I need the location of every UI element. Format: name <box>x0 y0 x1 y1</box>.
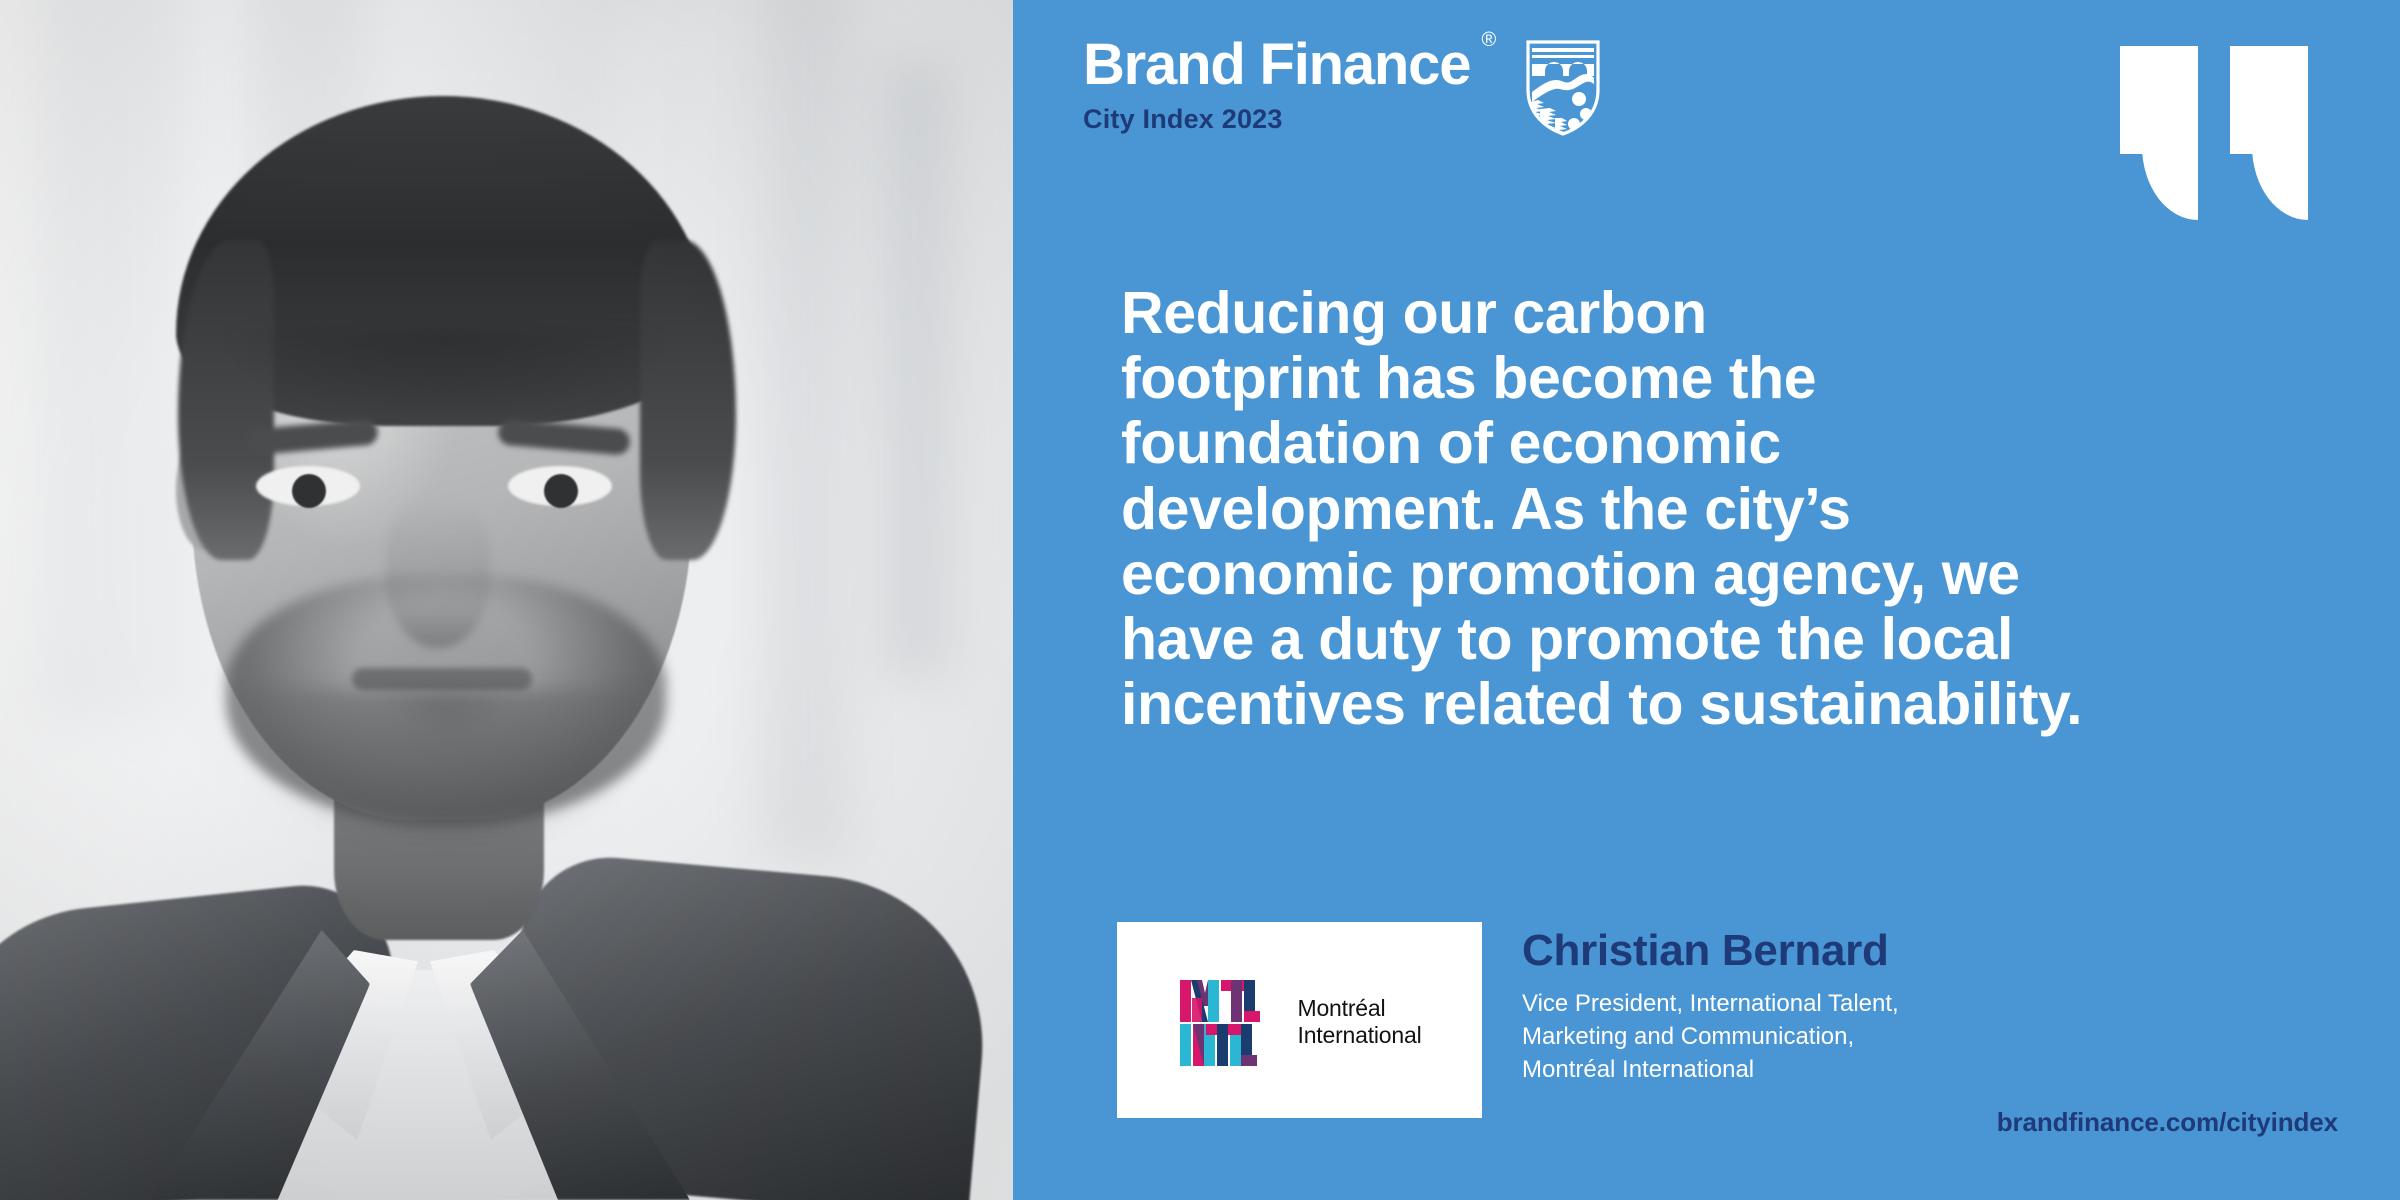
brand-finance-wordmark: Brand Finance® <box>1083 36 1470 94</box>
website-url[interactable]: brandfinance.com/cityindex <box>1997 1107 2338 1138</box>
speaker-title-line: Vice President, International Talent, <box>1522 987 1899 1020</box>
quote-line: Reducing our carbon <box>1121 281 2300 346</box>
mtl-intl-logo: Montréal International <box>1178 976 1422 1068</box>
speaker-title-line: Montréal International <box>1522 1053 1899 1086</box>
quote-line: footprint has become the <box>1121 346 2300 411</box>
brand-finance-wordmark-text: Brand Finance <box>1083 32 1470 97</box>
quote-line: incentives related to sustainability. <box>1121 672 2300 737</box>
quote-glyph-first <box>2120 46 2198 158</box>
speaker-title: Vice President, International Talent, Ma… <box>1522 987 1899 1086</box>
quote-panel: Brand Finance® <box>1013 0 2400 1200</box>
mtl-intl-name-line-1: Montréal <box>1298 995 1386 1021</box>
quote-glyph-second <box>2230 46 2308 158</box>
mtl-intl-monogram-icon <box>1178 976 1282 1068</box>
attribution-block: Montréal International Christian Bernard… <box>1117 922 1899 1118</box>
quote-line: have a duty to promote the local <box>1121 607 2300 672</box>
quote-line: economic promotion agency, we <box>1121 542 2300 607</box>
quote-text: Reducing our carbon footprint has become… <box>1121 281 2300 737</box>
quote-line: foundation of economic <box>1121 411 2300 476</box>
mtl-intl-name-line-2: International <box>1298 1022 1422 1048</box>
photo-vignette <box>0 0 1013 1200</box>
report-subtitle: City Index 2023 <box>1083 104 1283 135</box>
speaker-name: Christian Bernard <box>1522 928 1899 975</box>
portrait-photo <box>0 0 1013 1200</box>
registered-trademark-icon: ® <box>1482 30 1497 50</box>
quote-line: development. As the city’s <box>1121 477 2300 542</box>
mtl-intl-logo-box: Montréal International <box>1117 922 1482 1118</box>
speaker-details: Christian Bernard Vice President, Intern… <box>1522 922 1899 1086</box>
speaker-title-line: Marketing and Communication, <box>1522 1020 1899 1053</box>
quote-card: Brand Finance® <box>0 0 2400 1200</box>
mtl-intl-logo-name: Montréal International <box>1298 995 1422 1048</box>
brand-finance-shield-icon <box>1524 38 1602 143</box>
closing-quote-icon <box>2120 46 2308 158</box>
